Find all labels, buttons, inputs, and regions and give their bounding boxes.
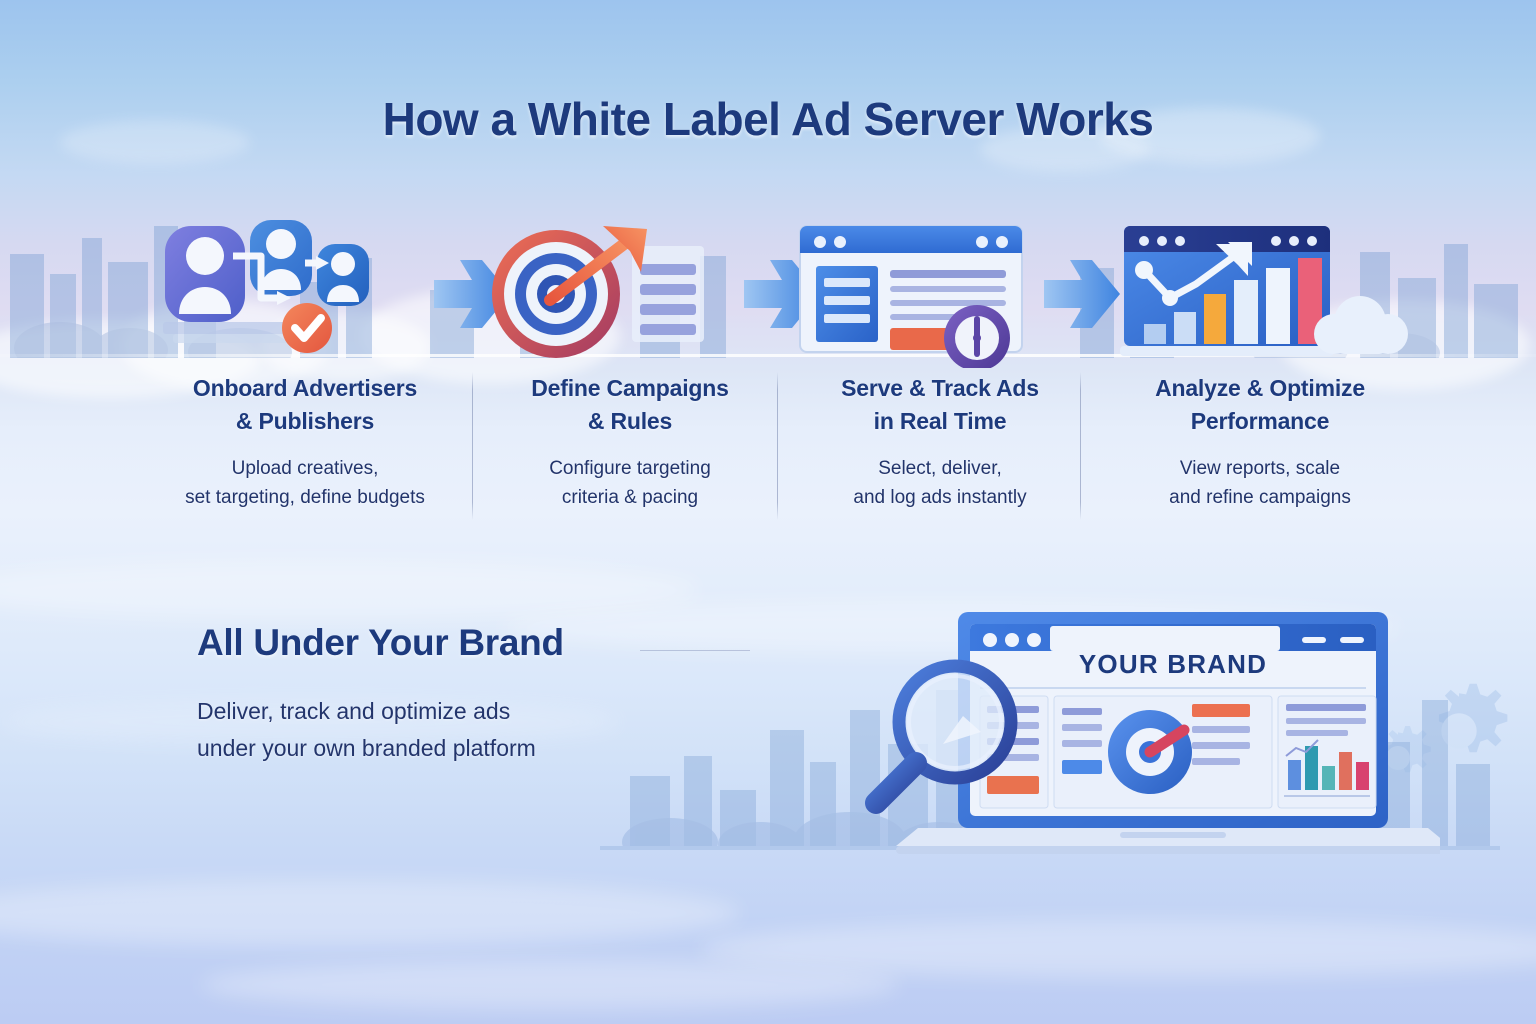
step-desc-line2: set targeting, define budgets: [185, 487, 425, 508]
step-heading-line1: Analyze & Optimize: [1155, 375, 1365, 401]
dashboard-brand-title: YOUR BRAND: [1079, 649, 1267, 679]
step-heading-line2: & Rules: [588, 408, 672, 434]
brand-sub-line2: under your own branded platform: [197, 735, 536, 761]
page-title: How a White Label Ad Server Works: [0, 92, 1536, 146]
step-analyze-optimize: Analyze & Optimize Performance View repo…: [1110, 218, 1410, 538]
step-heading-line1: Define Campaigns: [531, 375, 728, 401]
step-divider: [472, 372, 473, 520]
brand-section-subtext: Deliver, track and optimize ads under yo…: [197, 693, 757, 768]
process-flow: Onboard Advertisers & Publishers Upload …: [0, 218, 1536, 538]
step-heading-line1: Onboard Advertisers: [193, 375, 417, 401]
brand-section-heading: All Under Your Brand: [197, 622, 564, 664]
step-heading-line1: Serve & Track Ads: [841, 375, 1039, 401]
target-bullseye-icon: [480, 218, 780, 368]
step-define-campaigns: Define Campaigns & Rules Configure targe…: [480, 218, 780, 538]
step-onboard-advertisers: Onboard Advertisers & Publishers Upload …: [155, 218, 455, 538]
step-desc-line1: Configure targeting: [549, 458, 711, 479]
laptop-dashboard-icon: YOUR BRAND: [840, 600, 1440, 870]
step-divider: [777, 372, 778, 520]
step-desc-line2: and refine campaigns: [1169, 487, 1351, 508]
step-desc-line2: and log ads instantly: [853, 487, 1026, 508]
analytics-chart-icon: [1110, 218, 1410, 368]
step-divider: [1080, 372, 1081, 520]
step-heading-line2: & Publishers: [236, 408, 374, 434]
brand-heading-rule: [640, 650, 750, 651]
users-onboarding-icon: [155, 218, 455, 368]
brand-sub-line1: Deliver, track and optimize ads: [197, 698, 510, 724]
step-heading-line2: in Real Time: [874, 408, 1007, 434]
step-desc-line1: Upload creatives,: [232, 458, 379, 479]
gauge-donut-icon: [1108, 710, 1192, 794]
step-desc-line1: Select, deliver,: [878, 458, 1002, 479]
step-desc-line1: View reports, scale: [1180, 458, 1340, 479]
step-desc-line2: criteria & pacing: [562, 487, 698, 508]
step-heading-line2: Performance: [1191, 408, 1329, 434]
